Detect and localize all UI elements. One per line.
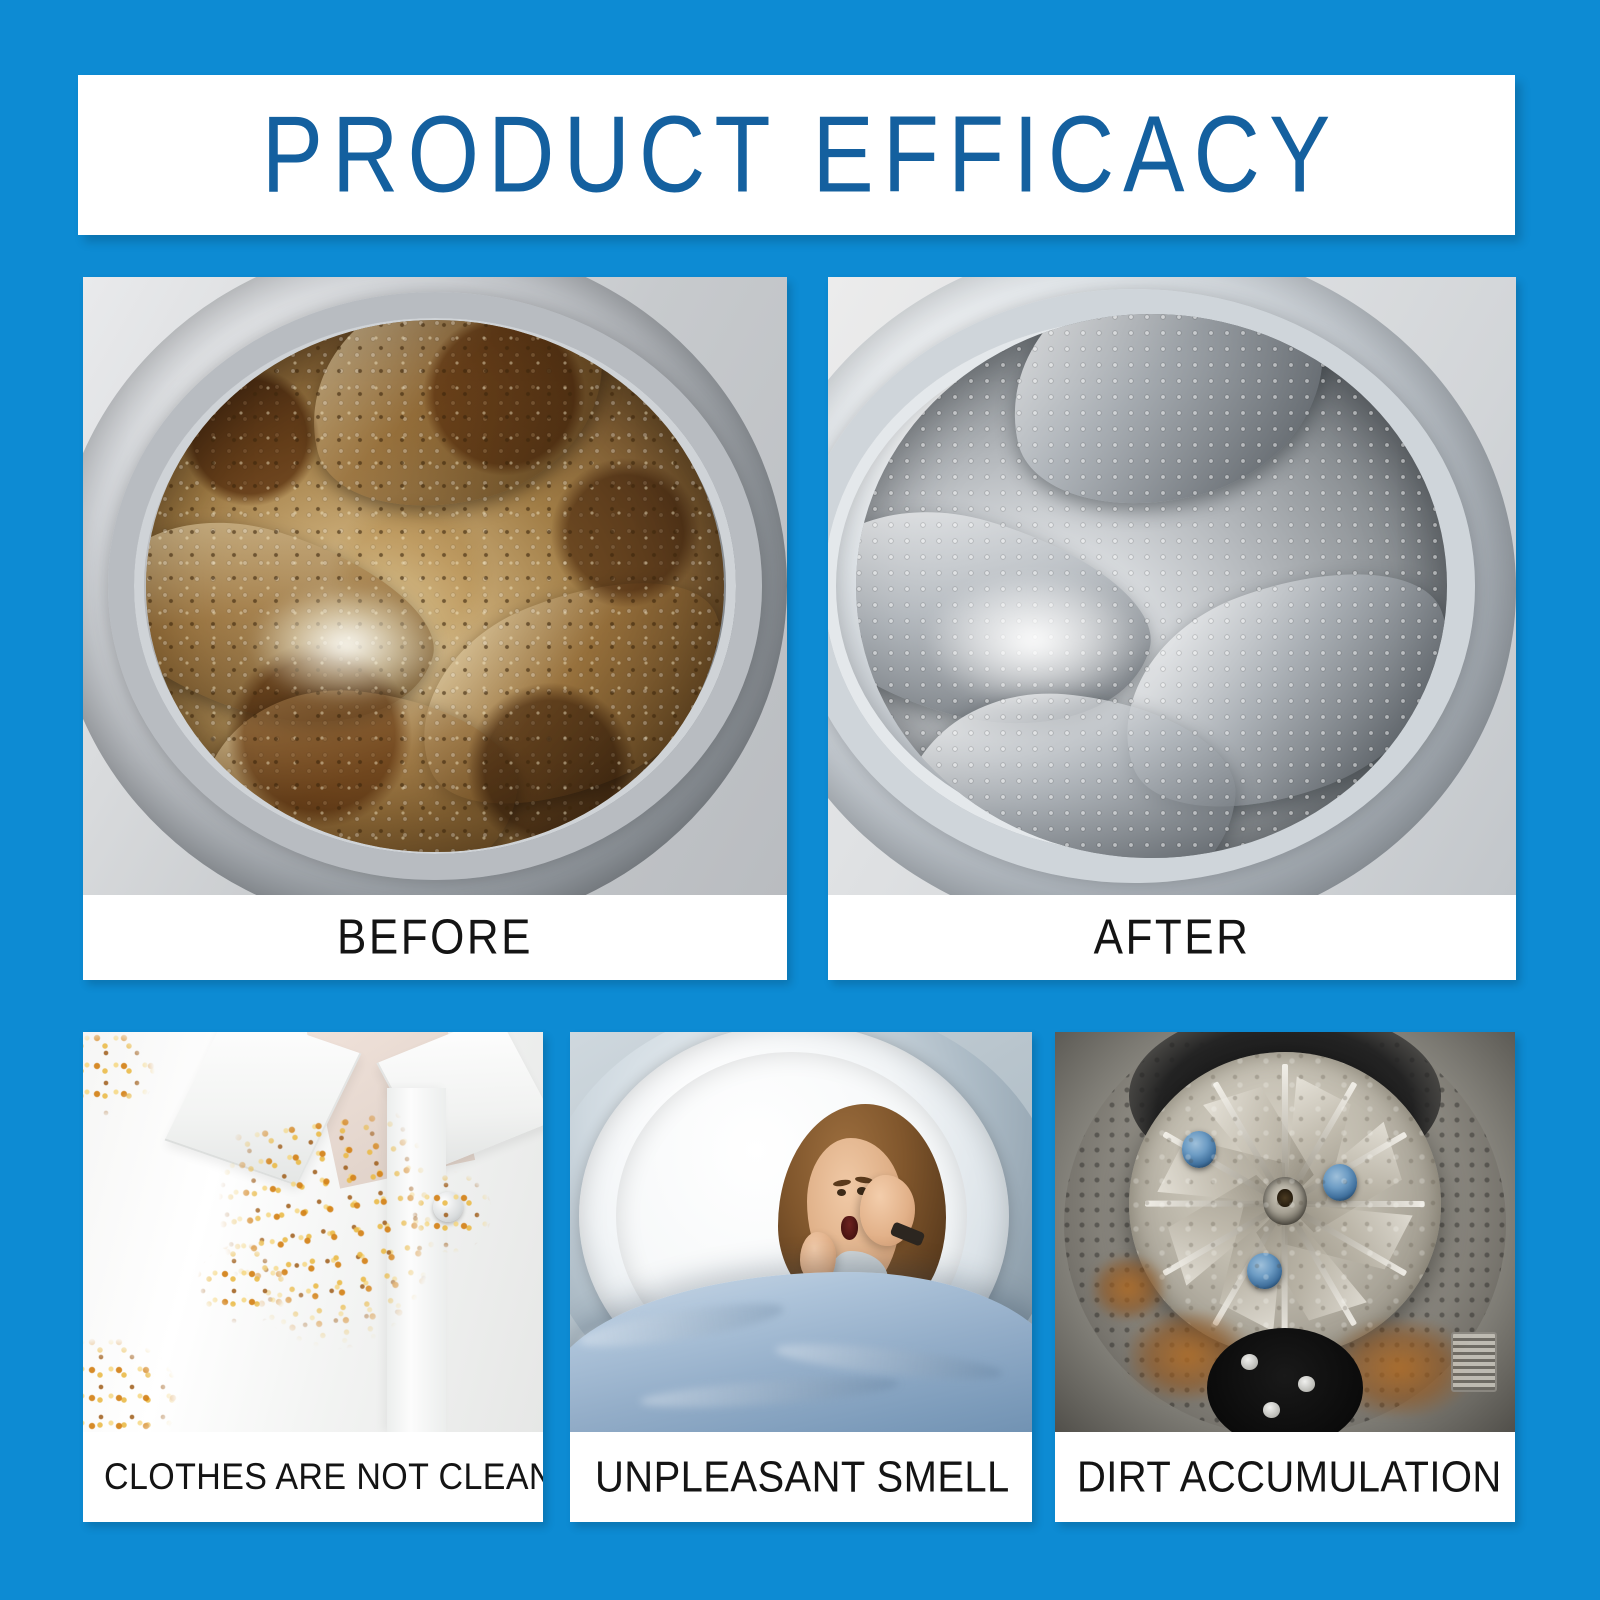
product-efficacy-poster: PRODUCT EFFICACY BEFORE <box>0 0 1600 1600</box>
before-caption: BEFORE <box>83 890 787 980</box>
drum-interior <box>856 314 1448 858</box>
problem-caption: DIRT ACCUMULATION <box>1055 1428 1515 1523</box>
open-mouth <box>841 1216 858 1240</box>
food-stain <box>405 1164 497 1260</box>
stained-shirt-image <box>83 1032 543 1432</box>
drum-speckle <box>146 320 723 851</box>
clean-drum-image <box>828 277 1516 895</box>
blue-screw-cap <box>1323 1164 1357 1200</box>
problem-caption: UNPLEASANT SMELL <box>570 1428 1032 1523</box>
blue-screw-cap <box>1247 1253 1281 1289</box>
dirty-drum-image <box>83 277 787 895</box>
drum-perforations <box>856 314 1448 858</box>
after-caption: AFTER <box>828 890 1516 980</box>
rust-stain <box>1092 1256 1166 1320</box>
sump-stud <box>1298 1376 1315 1392</box>
drum-glare <box>927 575 1140 706</box>
pulsator-plate <box>1129 1052 1442 1356</box>
problem-panel-dirt-accumulation: DIRT ACCUMULATION <box>1055 1032 1515 1522</box>
drum-interior <box>146 320 723 851</box>
after-panel: AFTER <box>828 277 1516 980</box>
unpleasant-smell-photo <box>570 1032 1032 1432</box>
eyebrow-left <box>832 1178 851 1187</box>
before-photo <box>83 277 787 895</box>
pulsator-center-hole <box>1277 1189 1293 1207</box>
before-panel: BEFORE <box>83 277 787 980</box>
eye-left <box>837 1189 846 1197</box>
blue-screw-cap <box>1182 1131 1216 1167</box>
tub-vent-grille <box>1451 1332 1496 1392</box>
dirt-accumulation-photo <box>1055 1032 1515 1432</box>
woman-pinching-nose-image <box>570 1032 1032 1432</box>
page-title: PRODUCT EFFICACY <box>254 101 1340 210</box>
food-stain <box>83 1032 157 1120</box>
food-stain <box>83 1336 180 1432</box>
food-stain <box>193 1240 294 1328</box>
problem-panel-clothes-not-clean: CLOTHES ARE NOT CLEAN <box>83 1032 543 1522</box>
problem-caption: CLOTHES ARE NOT CLEAN <box>83 1428 543 1523</box>
stained-shirt-photo <box>83 1032 543 1432</box>
sump-stud <box>1241 1354 1258 1370</box>
after-photo <box>828 277 1516 895</box>
sump-stud <box>1263 1402 1280 1418</box>
drum-glare <box>250 586 440 703</box>
problem-panel-unpleasant-smell: UNPLEASANT SMELL <box>570 1032 1032 1522</box>
fabric-fold <box>640 1372 900 1413</box>
header-card: PRODUCT EFFICACY <box>78 75 1515 235</box>
dirty-pulsator-image <box>1055 1032 1515 1432</box>
